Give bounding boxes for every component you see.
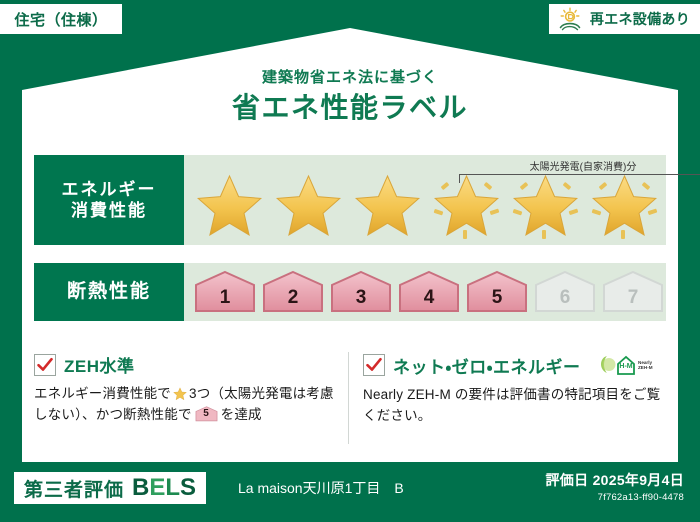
insulation-grade-badge: 3 bbox=[330, 270, 392, 314]
star-rating bbox=[184, 168, 664, 240]
criterion-zeh-level: ZEH水準 エネルギー消費性能で3つ（太陽光発電は考慮しない）、かつ断熱性能で5… bbox=[34, 352, 334, 426]
evaluation-id: 7f762a13-ff90-4478 bbox=[545, 492, 684, 503]
inline-grade-badge: 5 bbox=[194, 406, 219, 422]
criterion-net-zero-energy: ネット・ゼロ・エネルギー H-M Nearly ZEH-M Nearly ZEH… bbox=[363, 352, 673, 427]
criterion-description: Nearly ZEH-M の要件は評価書の特記項目をご覧ください。 bbox=[363, 385, 673, 427]
insulation-grade-badge: 7 bbox=[602, 270, 664, 314]
insulation-grade-value: 2 bbox=[262, 287, 324, 309]
star-icon bbox=[269, 168, 348, 240]
inline-star-icon bbox=[172, 386, 188, 401]
criteria-divider bbox=[348, 352, 349, 444]
bels-letter-e: E bbox=[149, 474, 165, 501]
label-subtitle: 建築物省エネ法に基づく bbox=[0, 66, 700, 87]
sun-renewable-icon bbox=[557, 7, 583, 31]
star-icon bbox=[190, 168, 269, 240]
energy-key-line1: エネルギー bbox=[62, 179, 157, 200]
insulation-grade-badge: 2 bbox=[262, 270, 324, 314]
insulation-performance-value: 1 2 3 4 bbox=[184, 263, 666, 321]
energy-performance-key: エネルギー 消費性能 bbox=[34, 155, 184, 245]
star-solar-icon bbox=[427, 168, 506, 240]
evaluation-info: 評価日 2025年9月4日 7f762a13-ff90-4478 bbox=[545, 470, 684, 503]
renewable-badge-label: 再エネ設備あり bbox=[590, 9, 690, 29]
criterion-header: ネット・ゼロ・エネルギー H-M Nearly ZEH-M bbox=[363, 352, 673, 378]
bels-letter-b: B bbox=[132, 474, 149, 501]
criterion-title: ZEH水準 bbox=[64, 352, 135, 377]
insulation-grade-badge: 1 bbox=[194, 270, 256, 314]
criterion-text-part3: を達成 bbox=[221, 407, 262, 422]
category-tag: 住宅（住棟） bbox=[0, 4, 122, 34]
category-tag-label: 住宅（住棟） bbox=[14, 9, 107, 30]
criterion-title: ネット・ゼロ・エネルギー bbox=[393, 353, 581, 378]
renewable-energy-badge: 再エネ設備あり bbox=[549, 4, 700, 34]
criterion-description: エネルギー消費性能で3つ（太陽光発電は考慮しない）、かつ断熱性能で5を達成 bbox=[34, 384, 334, 426]
checkbox-checked-icon bbox=[363, 354, 385, 376]
star-solar-icon bbox=[585, 168, 664, 240]
energy-performance-label: 住宅（住棟） 再エネ設備あり 建築物省エネ法に基づく 省エネ性能ラベル bbox=[0, 0, 700, 522]
insulation-performance-key: 断熱性能 bbox=[34, 263, 184, 321]
energy-performance-value: 太陽光発電(自家消費)分 bbox=[184, 155, 666, 245]
label-title: 省エネ性能ラベル bbox=[0, 86, 700, 126]
bels-letter-l: L bbox=[165, 474, 180, 501]
insulation-grade-badge: 4 bbox=[398, 270, 460, 314]
label-footer: 第三者評価 BELS La maison天川原1丁目 B 評価日 2025年9月… bbox=[0, 462, 700, 522]
energy-performance-row: エネルギー 消費性能 bbox=[34, 155, 666, 245]
bels-letter-s: S bbox=[180, 474, 196, 501]
insulation-grade-value: 4 bbox=[398, 287, 460, 309]
criterion-header: ZEH水準 bbox=[34, 352, 334, 377]
inline-grade-value: 5 bbox=[194, 406, 219, 422]
insulation-performance-row: 断熱性能 1 2 bbox=[34, 263, 666, 321]
insulation-grade-scale: 1 2 3 4 bbox=[184, 270, 664, 314]
insulation-grade-value: 7 bbox=[602, 287, 664, 309]
svg-text:H-M: H-M bbox=[619, 363, 632, 370]
criterion-text-part1: エネルギー消費性能で bbox=[34, 386, 171, 401]
insulation-grade-badge: 5 bbox=[466, 270, 528, 314]
bels-badge: 第三者評価 BELS bbox=[14, 472, 206, 504]
star-solar-icon bbox=[506, 168, 585, 240]
energy-key-line2: 消費性能 bbox=[71, 200, 147, 221]
insulation-grade-value: 3 bbox=[330, 287, 392, 309]
zeh-m-logo-icon: H-M Nearly ZEH-M bbox=[593, 352, 653, 378]
insulation-grade-value: 5 bbox=[466, 287, 528, 309]
insulation-grade-value: 1 bbox=[194, 287, 256, 309]
bels-jp-label: 第三者評価 bbox=[24, 475, 124, 502]
insulation-key-label: 断熱性能 bbox=[67, 280, 151, 304]
insulation-grade-badge: 6 bbox=[534, 270, 596, 314]
star-icon bbox=[348, 168, 427, 240]
building-name: La maison天川原1丁目 B bbox=[238, 478, 404, 498]
evaluation-date: 評価日 2025年9月4日 bbox=[545, 470, 684, 490]
bels-logo: BELS bbox=[132, 474, 196, 502]
insulation-grade-value: 6 bbox=[534, 287, 596, 309]
checkbox-checked-icon bbox=[34, 354, 56, 376]
svg-text:ZEH-M: ZEH-M bbox=[638, 365, 653, 370]
